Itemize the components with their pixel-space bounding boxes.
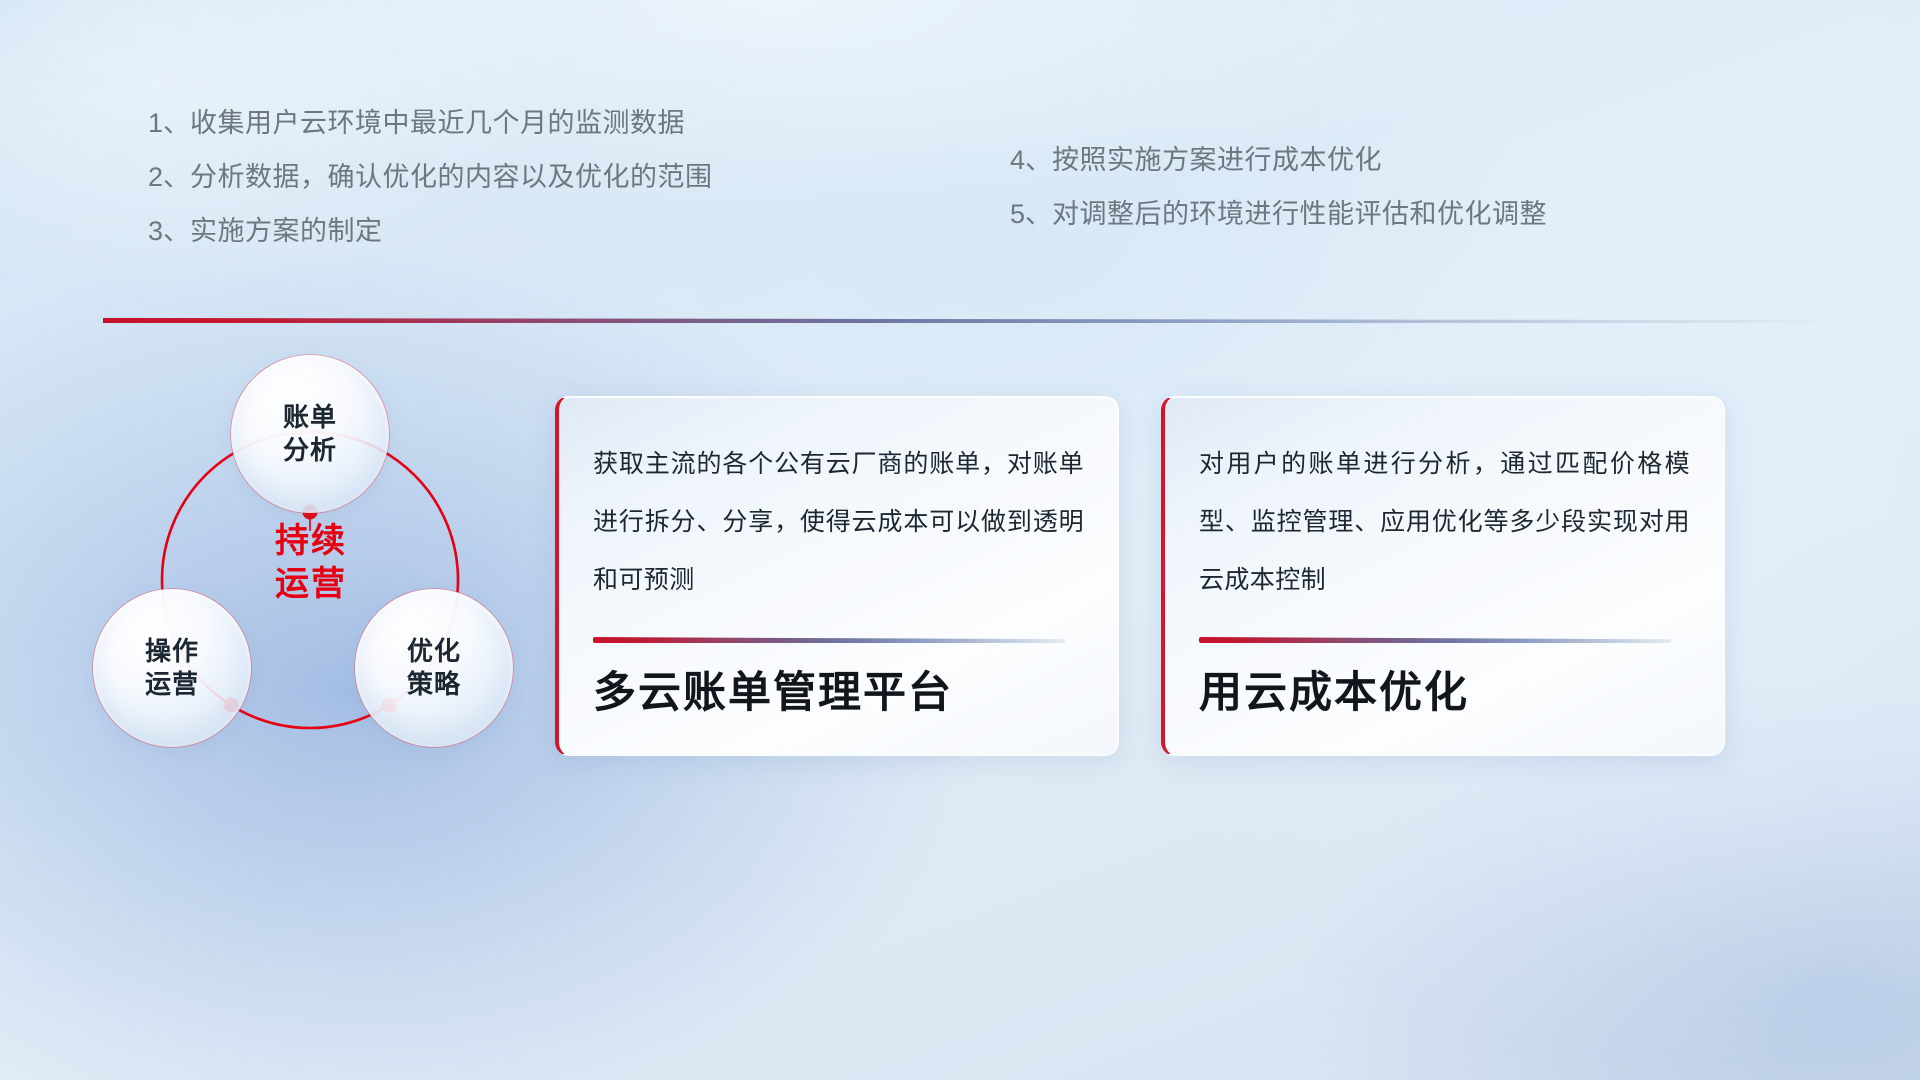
steps-column-left: 1、收集用户云环境中最近几个月的监测数据 2、分析数据，确认优化的内容以及优化的… bbox=[148, 96, 713, 258]
step-number: 2、 bbox=[148, 162, 190, 192]
step-number: 5、 bbox=[1010, 199, 1052, 229]
step-text: 实施方案的制定 bbox=[190, 216, 383, 246]
card-title: 多云账单管理平台 bbox=[593, 665, 953, 721]
section-divider bbox=[103, 318, 1841, 323]
step-number: 3、 bbox=[148, 216, 190, 246]
venn-bubble-label: 账单 分析 bbox=[283, 401, 337, 467]
venn-center-label: 持续 运营 bbox=[231, 520, 391, 606]
venn-bubble-label: 优化 策略 bbox=[407, 635, 461, 701]
step-number: 4、 bbox=[1010, 145, 1052, 175]
step-text: 对调整后的环境进行性能评估和优化调整 bbox=[1052, 199, 1547, 229]
step-text: 按照实施方案进行成本优化 bbox=[1052, 145, 1382, 175]
card-body-text: 对用户的账单进行分析，通过匹配价格模型、监控管理、应用优化等多少段实现对用云成本… bbox=[1199, 435, 1690, 615]
step-item: 3、实施方案的制定 bbox=[148, 204, 713, 258]
venn-diagram: 账单 分析 操作 运营 优化 策略 持续 运营 bbox=[85, 355, 605, 795]
venn-bubble-operation-running[interactable]: 操作 运营 bbox=[93, 589, 251, 747]
divider-bar bbox=[103, 318, 1841, 323]
step-text: 分析数据，确认优化的内容以及优化的范围 bbox=[190, 162, 713, 192]
step-item: 2、分析数据，确认优化的内容以及优化的范围 bbox=[148, 150, 713, 204]
steps-section: 1、收集用户云环境中最近几个月的监测数据 2、分析数据，确认优化的内容以及优化的… bbox=[0, 96, 1920, 256]
feature-cards: 获取主流的各个公有云厂商的账单，对账单进行拆分、分享，使得云成本可以做到透明和可… bbox=[555, 396, 1855, 756]
step-item: 4、按照实施方案进行成本优化 bbox=[1010, 133, 1547, 187]
card-title: 用云成本优化 bbox=[1199, 665, 1469, 721]
step-text: 收集用户云环境中最近几个月的监测数据 bbox=[190, 108, 685, 138]
venn-bubble-optimization-policy[interactable]: 优化 策略 bbox=[355, 589, 513, 747]
step-number: 1、 bbox=[148, 108, 190, 138]
card-divider-rule bbox=[593, 637, 1065, 643]
feature-card-cost-optimization[interactable]: 对用户的账单进行分析，通过匹配价格模型、监控管理、应用优化等多少段实现对用云成本… bbox=[1161, 396, 1725, 756]
venn-bubble-bill-analysis[interactable]: 账单 分析 bbox=[231, 355, 389, 513]
venn-bubble-label: 操作 运营 bbox=[145, 635, 199, 701]
card-body-text: 获取主流的各个公有云厂商的账单，对账单进行拆分、分享，使得云成本可以做到透明和可… bbox=[593, 435, 1084, 615]
feature-card-multicloud-billing[interactable]: 获取主流的各个公有云厂商的账单，对账单进行拆分、分享，使得云成本可以做到透明和可… bbox=[555, 396, 1119, 756]
slide-root: 1、收集用户云环境中最近几个月的监测数据 2、分析数据，确认优化的内容以及优化的… bbox=[0, 0, 1920, 1080]
card-divider-rule bbox=[1199, 637, 1671, 643]
step-item: 5、对调整后的环境进行性能评估和优化调整 bbox=[1010, 187, 1547, 241]
steps-column-right: 4、按照实施方案进行成本优化 5、对调整后的环境进行性能评估和优化调整 bbox=[1010, 133, 1547, 241]
step-item: 1、收集用户云环境中最近几个月的监测数据 bbox=[148, 96, 713, 150]
